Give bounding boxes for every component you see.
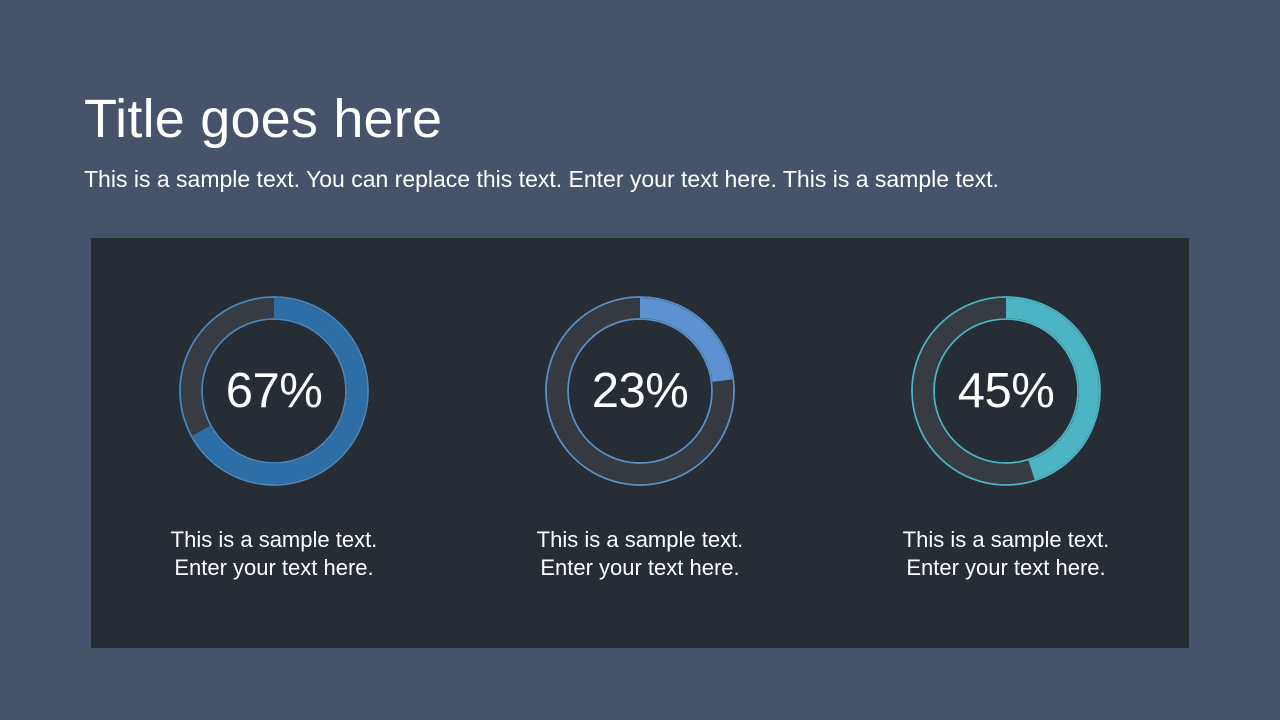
kpi-caption: This is a sample text. Enter your text h…: [537, 526, 744, 582]
kpi-card[interactable]: 45% This is a sample text. Enter your te…: [836, 288, 1176, 582]
donut-value-label: 67%: [171, 288, 377, 494]
kpi-caption: This is a sample text. Enter your text h…: [171, 526, 378, 582]
donut-value-label: 45%: [903, 288, 1109, 494]
kpi-caption: This is a sample text. Enter your text h…: [903, 526, 1110, 582]
donut-value-label: 23%: [537, 288, 743, 494]
page-title: Title goes here: [84, 88, 1204, 150]
kpi-panel: 67% This is a sample text. Enter your te…: [91, 238, 1189, 648]
kpi-card-row: 67% This is a sample text. Enter your te…: [91, 238, 1189, 648]
donut-chart-1[interactable]: 67%: [171, 288, 377, 494]
donut-chart-3[interactable]: 45%: [903, 288, 1109, 494]
kpi-card[interactable]: 67% This is a sample text. Enter your te…: [104, 288, 444, 582]
donut-chart-2[interactable]: 23%: [537, 288, 743, 494]
slide-canvas: Title goes here This is a sample text. Y…: [0, 0, 1280, 720]
slide-header: Title goes here This is a sample text. Y…: [84, 88, 1204, 194]
kpi-card[interactable]: 23% This is a sample text. Enter your te…: [470, 288, 810, 582]
slide-subtitle: This is a sample text. You can replace t…: [84, 164, 1204, 194]
